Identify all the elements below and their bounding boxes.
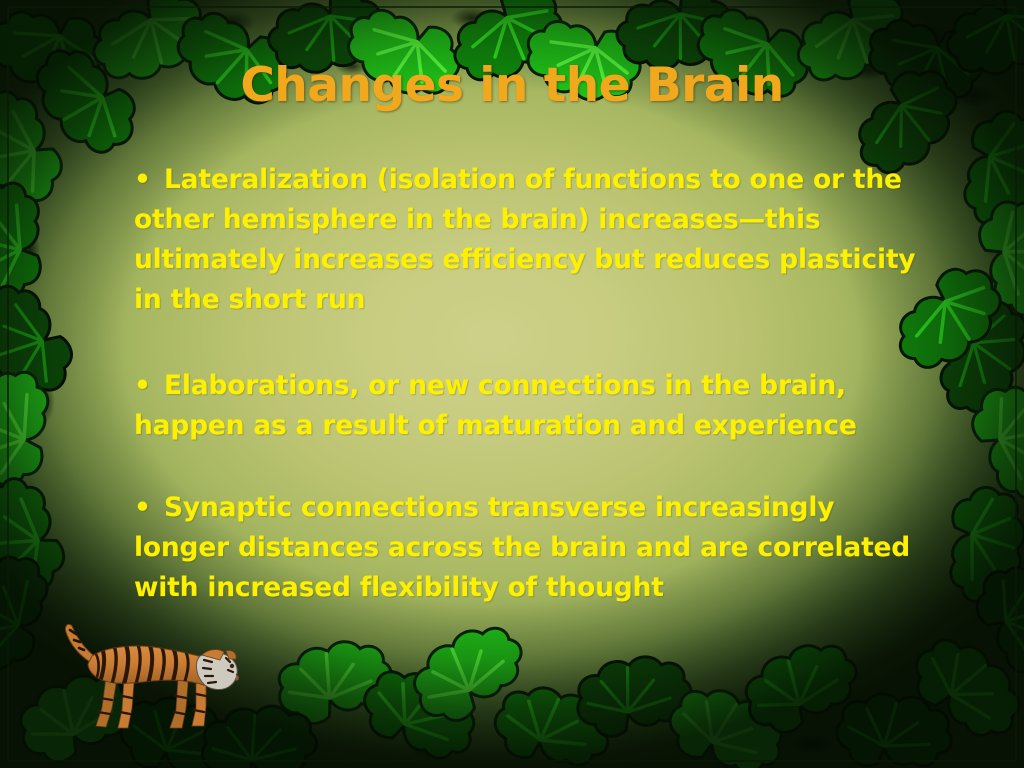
list-item-text: Synaptic connections transverse increasi… xyxy=(134,492,910,603)
list-item-text: Lateralization (isolation of functions t… xyxy=(134,164,915,315)
bullet-marker-icon: • xyxy=(134,488,164,528)
page-title: Changes in the Brain xyxy=(0,58,1024,113)
list-item: •Elaborations, or new connections in the… xyxy=(134,366,924,446)
list-item: •Synaptic connections transverse increas… xyxy=(134,488,924,608)
bullet-marker-icon: • xyxy=(134,160,164,200)
tiger-photo xyxy=(50,622,242,738)
list-item-text: Elaborations, or new connections in the … xyxy=(134,370,857,441)
bullet-marker-icon: • xyxy=(134,366,164,406)
presentation-slide: Changes in the Brain •Lateralization (is… xyxy=(0,0,1024,768)
list-item: •Lateralization (isolation of functions … xyxy=(134,160,924,320)
bullet-list: •Lateralization (isolation of functions … xyxy=(134,160,924,608)
